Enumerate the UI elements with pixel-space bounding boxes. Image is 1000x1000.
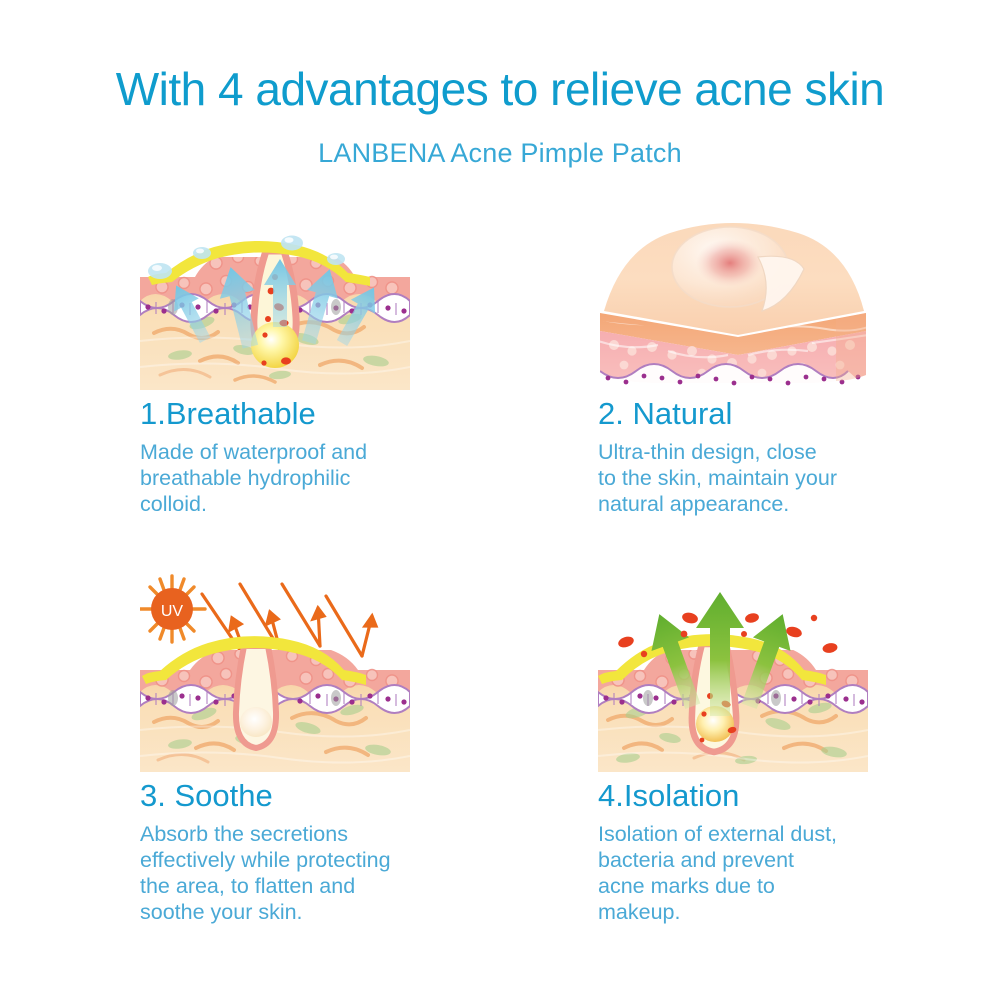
feature-body: Ultra-thin design, close to the skin, ma… bbox=[598, 439, 998, 517]
feature-heading: 2. Natural bbox=[598, 396, 998, 432]
feature-card-breathable: 1.Breathable Made of waterproof and brea… bbox=[140, 215, 540, 517]
feature-heading: 1.Breathable bbox=[140, 396, 540, 432]
illustration-isolation bbox=[598, 572, 998, 772]
page-subtitle: LANBENA Acne Pimple Patch bbox=[0, 138, 1000, 169]
feature-body: Isolation of external dust, bacteria and… bbox=[598, 821, 998, 925]
illustration-soothe: UV bbox=[140, 572, 540, 772]
infographic-page: With 4 advantages to relieve acne skin L… bbox=[0, 0, 1000, 1000]
uv-badge-label: UV bbox=[161, 603, 184, 620]
illustration-natural bbox=[598, 215, 998, 390]
uv-sun-icon: UV bbox=[140, 576, 205, 642]
page-title: With 4 advantages to relieve acne skin bbox=[0, 62, 1000, 116]
illustration-breathable bbox=[140, 215, 540, 390]
feature-card-natural: 2. Natural Ultra-thin design, close to t… bbox=[598, 215, 998, 517]
feature-body: Absorb the secretions effectively while … bbox=[140, 821, 540, 925]
feature-card-isolation: 4.Isolation Isolation of external dust, … bbox=[598, 572, 998, 925]
feature-card-soothe: UV bbox=[140, 572, 540, 925]
feature-body: Made of waterproof and breathable hydrop… bbox=[140, 439, 540, 517]
feature-heading: 4.Isolation bbox=[598, 778, 998, 814]
feature-heading: 3. Soothe bbox=[140, 778, 540, 814]
